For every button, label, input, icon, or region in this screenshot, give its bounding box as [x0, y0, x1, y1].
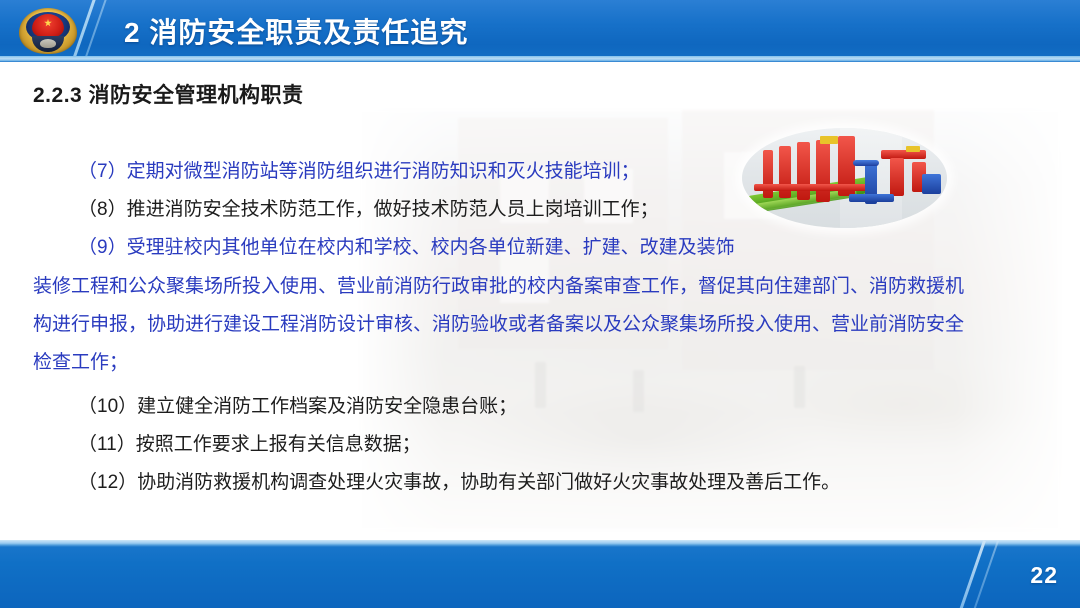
photo-valve-handwheel-icon [853, 160, 879, 166]
emblem-red-shield [32, 14, 64, 38]
china-fire-service-emblem-icon [15, 6, 81, 56]
slide-header-bar: 2 消防安全职责及责任追究 [0, 0, 1080, 62]
section-title: 2.2.3 消防安全管理机构职责 [33, 79, 304, 109]
list-item-8: （8）推进消防安全技术防范工作，做好技术防范人员上岗培训工作； [78, 200, 659, 219]
slide-footer-bar: 22 [0, 540, 1080, 608]
list-item-9-continuation-3: 检查工作； [33, 353, 128, 372]
photo-blue-pipe [849, 194, 894, 202]
page-number: 22 [1030, 562, 1058, 589]
watermark-person [535, 362, 546, 408]
photo-yellow-tag [906, 146, 920, 152]
fire-pump-valve-manifold-photo [742, 128, 947, 228]
list-item-7: （7）定期对微型消防站等消防组织进行消防知识和灭火技能培训； [78, 162, 640, 181]
photo-blue-fitting [922, 174, 940, 194]
watermark-person [794, 366, 805, 408]
list-item-9-continuation-2: 构进行申报，协助进行建设工程消防设计审核、消防验收或者备案以及公众聚集场所投入使… [33, 315, 964, 334]
photo-red-riser [816, 140, 830, 202]
photo-yellow-tag [820, 136, 838, 144]
list-item-11: （11）按照工作要求上报有关信息数据； [78, 435, 421, 454]
photo-red-header-pipe [754, 184, 873, 191]
footer-diagonal-accent [955, 540, 986, 608]
photo-red-riser [890, 158, 904, 196]
list-item-10: （10）建立健全消防工作档案及消防安全隐患台账； [78, 397, 517, 416]
list-item-12: （12）协助消防救援机构调查处理火灾事故，协助有关部门做好火灾事故处理及善后工作… [78, 473, 840, 492]
slide: 2 消防安全职责及责任追究 2.2.3 消防安全管理机构职责 [0, 0, 1080, 608]
list-item-9-continuation-1: 装修工程和公众聚集场所投入使用、营业前消防行政审批的校内备案审查工作，督促其向住… [33, 277, 964, 296]
list-item-9: （9）受理驻校内其他单位在校内和学校、校内各单位新建、扩建、改建及装饰 [78, 238, 735, 257]
watermark-person [633, 370, 644, 412]
photo-red-riser [797, 142, 809, 200]
page-title: 2 消防安全职责及责任追究 [124, 11, 468, 51]
